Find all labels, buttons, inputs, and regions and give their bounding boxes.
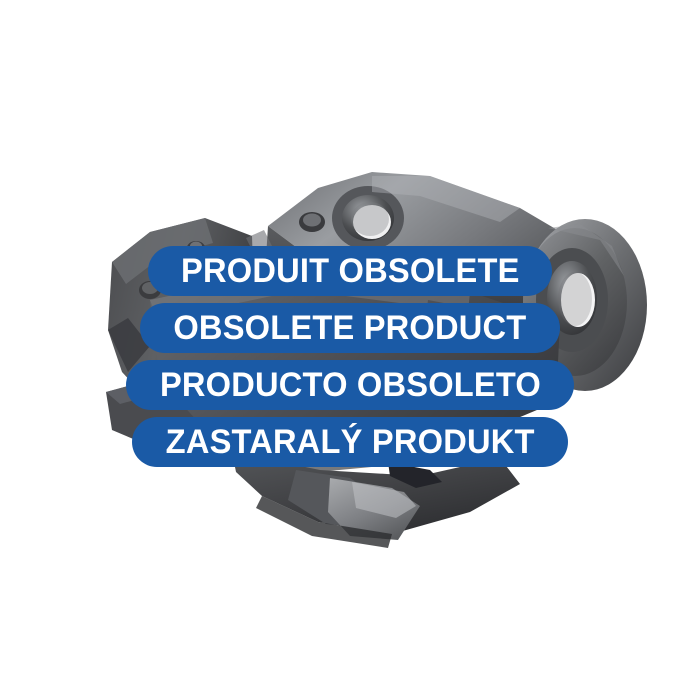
obsolete-banner-label-en: OBSOLETE PRODUCT bbox=[173, 311, 526, 345]
obsolete-banner-en: OBSOLETE PRODUCT bbox=[140, 303, 560, 353]
obsolete-banner-label-fr: PRODUIT OBSOLETE bbox=[181, 254, 520, 288]
screenshot-root: PRODUIT OBSOLETE OBSOLETE PRODUCT PRODUC… bbox=[0, 0, 700, 700]
obsolete-banner-fr: PRODUIT OBSOLETE bbox=[148, 246, 553, 296]
obsolete-banner-cs: ZASTARALÝ PRODUKT bbox=[132, 417, 568, 467]
obsolete-banner-stack: PRODUIT OBSOLETE OBSOLETE PRODUCT PRODUC… bbox=[0, 246, 700, 467]
obsolete-banner-es: PRODUCTO OBSOLETO bbox=[126, 360, 575, 410]
obsolete-banner-label-cs: ZASTARALÝ PRODUKT bbox=[166, 425, 535, 459]
obsolete-banner-label-es: PRODUCTO OBSOLETO bbox=[159, 368, 540, 402]
